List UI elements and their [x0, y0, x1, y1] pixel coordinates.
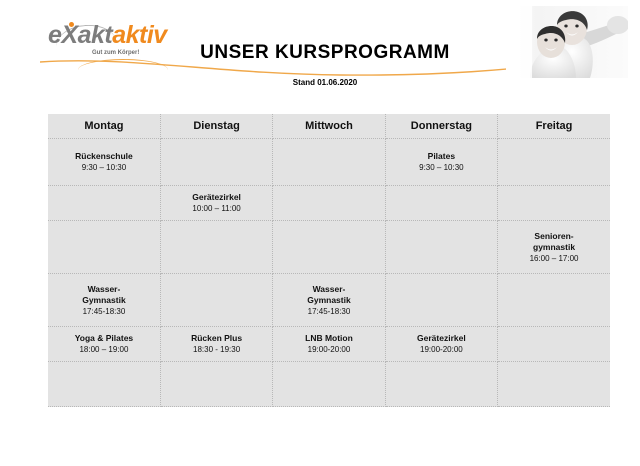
schedule-cell-empty [385, 186, 497, 221]
table-row: Senioren- gymnastik16:00 – 17:00 [48, 221, 610, 274]
course-time: 19:00-20:00 [388, 344, 495, 355]
header-photo [506, 6, 628, 78]
schedule-cell-empty [273, 139, 385, 186]
schedule-cell-empty [48, 186, 160, 221]
schedule-cell-empty [498, 274, 610, 327]
course-name: Yoga & Pilates [50, 333, 158, 344]
logo-dot-icon [69, 22, 74, 27]
course-time: 10:00 – 11:00 [163, 203, 270, 214]
column-header-mittwoch: Mittwoch [273, 114, 385, 139]
table-row: Wasser- Gymnastik17:45-18:30Wasser- Gymn… [48, 274, 610, 327]
schedule-cell-empty [273, 221, 385, 274]
schedule-cell-empty [273, 186, 385, 221]
course-name: Wasser- Gymnastik [275, 284, 382, 306]
column-header-donnerstag: Donnerstag [385, 114, 497, 139]
course-name: LNB Motion [275, 333, 382, 344]
course-name: Senioren- gymnastik [500, 231, 608, 253]
course-time: 9:30 – 10:30 [50, 162, 158, 173]
schedule-cell-course[interactable]: Gerätezirkel10:00 – 11:00 [160, 186, 272, 221]
logo-tagline: Gut zum Körper! [92, 50, 139, 56]
course-name: Gerätezirkel [388, 333, 495, 344]
course-time: 9:30 – 10:30 [388, 162, 495, 173]
schedule-cell-empty [160, 362, 272, 407]
page-header: eXaktaktiv Gut zum Körper! UNSER KURSPRO… [0, 0, 640, 100]
schedule-cell-course[interactable]: Rücken Plus18:30 - 19:30 [160, 327, 272, 362]
schedule-cell-empty [273, 362, 385, 407]
schedule-cell-course[interactable]: Yoga & Pilates18:00 – 19:00 [48, 327, 160, 362]
course-schedule-table: Montag Dienstag Mittwoch Donnerstag Frei… [48, 114, 610, 407]
column-header-dienstag: Dienstag [160, 114, 272, 139]
logo-wordmark: eXaktaktiv [48, 22, 167, 48]
course-time: 17:45-18:30 [275, 306, 382, 317]
course-time: 16:00 – 17:00 [500, 253, 608, 264]
schedule-cell-empty [385, 221, 497, 274]
schedule-cell-course[interactable]: Wasser- Gymnastik17:45-18:30 [273, 274, 385, 327]
column-header-montag: Montag [48, 114, 160, 139]
table-row [48, 362, 610, 407]
course-name: Pilates [388, 151, 495, 162]
schedule-cell-course[interactable]: Wasser- Gymnastik17:45-18:30 [48, 274, 160, 327]
schedule-cell-empty [160, 139, 272, 186]
schedule-cell-empty [498, 186, 610, 221]
schedule-header-row-group: Montag Dienstag Mittwoch Donnerstag Frei… [48, 114, 610, 139]
course-name: Rückenschule [50, 151, 158, 162]
schedule-cell-course[interactable]: Senioren- gymnastik16:00 – 17:00 [498, 221, 610, 274]
schedule-cell-course[interactable]: Gerätezirkel19:00-20:00 [385, 327, 497, 362]
schedule-cell-empty [498, 327, 610, 362]
logo-wordmark-orange: aktiv [112, 21, 166, 49]
course-name: Wasser- Gymnastik [50, 284, 158, 306]
table-row: Rückenschule9:30 – 10:30Pilates9:30 – 10… [48, 139, 610, 186]
schedule-cell-empty [160, 274, 272, 327]
schedule-cell-course[interactable]: Pilates9:30 – 10:30 [385, 139, 497, 186]
course-time: 18:30 - 19:30 [163, 344, 270, 355]
schedule-cell-empty [385, 362, 497, 407]
logo-wordmark-gray: eXakt [48, 21, 112, 49]
course-time: 17:45-18:30 [50, 306, 158, 317]
course-time: 18:00 – 19:00 [50, 344, 158, 355]
table-row: Yoga & Pilates18:00 – 19:00Rücken Plus18… [48, 327, 610, 362]
schedule-cell-empty [385, 274, 497, 327]
schedule-header-row: Montag Dienstag Mittwoch Donnerstag Frei… [48, 114, 610, 139]
schedule-cell-empty [498, 362, 610, 407]
header-swoosh-decoration [40, 58, 580, 80]
schedule-cell-course[interactable]: LNB Motion19:00-20:00 [273, 327, 385, 362]
schedule-cell-empty [48, 221, 160, 274]
column-header-freitag: Freitag [498, 114, 610, 139]
table-row: Gerätezirkel10:00 – 11:00 [48, 186, 610, 221]
schedule-cell-course[interactable]: Rückenschule9:30 – 10:30 [48, 139, 160, 186]
schedule-cell-empty [48, 362, 160, 407]
schedule-cell-empty [160, 221, 272, 274]
schedule-cell-empty [498, 139, 610, 186]
schedule-body: Rückenschule9:30 – 10:30Pilates9:30 – 10… [48, 139, 610, 407]
course-name: Gerätezirkel [163, 192, 270, 203]
course-schedule-container: Montag Dienstag Mittwoch Donnerstag Frei… [48, 114, 610, 407]
course-name: Rücken Plus [163, 333, 270, 344]
course-time: 19:00-20:00 [275, 344, 382, 355]
